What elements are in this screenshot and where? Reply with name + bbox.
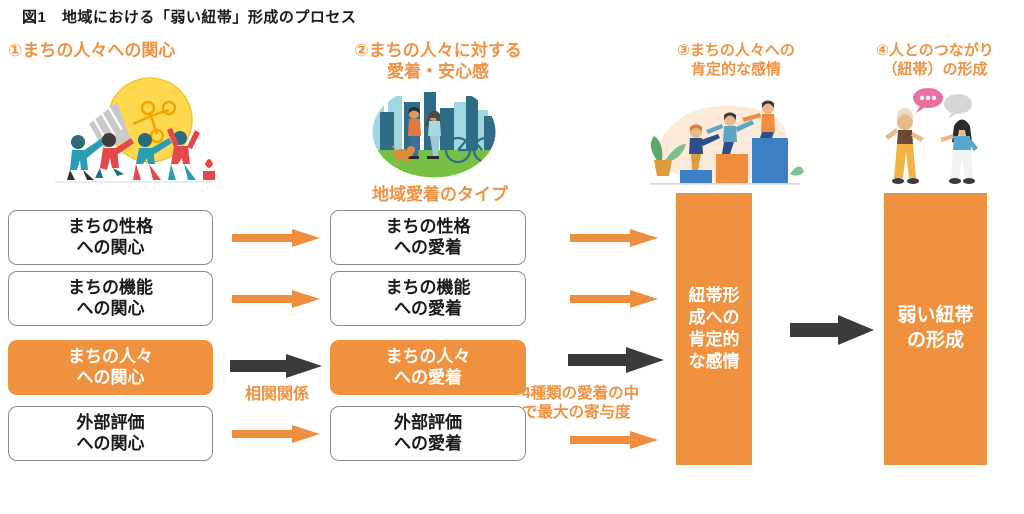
- attachment-box-1[interactable]: まちの性格 への愛着: [330, 210, 526, 265]
- column-heading-step4: ④人とのつながり （紐帯）の形成: [845, 42, 1024, 80]
- arrow-attachment-to-feeling-1-icon: [568, 228, 660, 248]
- figure-title: 図1 地域における「弱い紐帯」形成のプロセス: [22, 6, 356, 27]
- column-heading-step1: ①まちの人々への関心: [8, 40, 258, 61]
- attachment-box-2[interactable]: まちの機能 への愛着: [330, 271, 526, 326]
- column-heading-step3: ③まちの人々への 肯定的な感情: [636, 42, 836, 80]
- interest-box-1[interactable]: まちの性格 への関心: [8, 210, 213, 265]
- correlation-label: 相関関係: [222, 380, 332, 404]
- positive-feeling-bar[interactable]: 紐帯形 成への 肯定的 な感情: [676, 193, 752, 465]
- lightbulb-teamwork-illustration: [45, 72, 225, 189]
- arrow-correlation-icon: [228, 352, 324, 380]
- attachment-type-label: 地域愛着のタイプ: [330, 180, 550, 205]
- arrow-interest-to-attachment-1-icon: [230, 228, 322, 248]
- arrow-max-contribution-icon: [566, 345, 666, 375]
- attachment-box-3-highlighted[interactable]: まちの人々 への愛着: [330, 340, 526, 395]
- city-park-couple-bicycle-illustration: [358, 88, 510, 185]
- interest-box-3-highlighted[interactable]: まちの人々 への関心: [8, 340, 213, 395]
- weak-tie-formation-bar[interactable]: 弱い紐帯 の形成: [884, 193, 987, 465]
- arrow-interest-to-attachment-4-icon: [230, 424, 322, 444]
- interest-box-4[interactable]: 外部評価 への関心: [8, 406, 213, 461]
- attachment-box-4[interactable]: 外部評価 への愛着: [330, 406, 526, 461]
- people-climbing-steps-illustration: [638, 92, 806, 193]
- max-contribution-label: 4種類の愛着の中 で最大の寄与度: [522, 385, 684, 423]
- arrow-interest-to-attachment-2-icon: [230, 289, 322, 309]
- arrow-attachment-to-feeling-2-icon: [568, 289, 660, 309]
- arrow-attachment-to-feeling-4-icon: [568, 430, 660, 450]
- arrow-feeling-to-weaktie-icon: [788, 312, 876, 348]
- two-people-conversation-illustration: [870, 82, 1000, 195]
- column-heading-step2: ②まちの人々に対する 愛着・安心感: [318, 40, 558, 83]
- interest-box-2[interactable]: まちの機能 への関心: [8, 271, 213, 326]
- figure-canvas: 図1 地域における「弱い紐帯」形成のプロセス ①まちの人々への関心 ②まちの人々…: [0, 0, 1024, 514]
